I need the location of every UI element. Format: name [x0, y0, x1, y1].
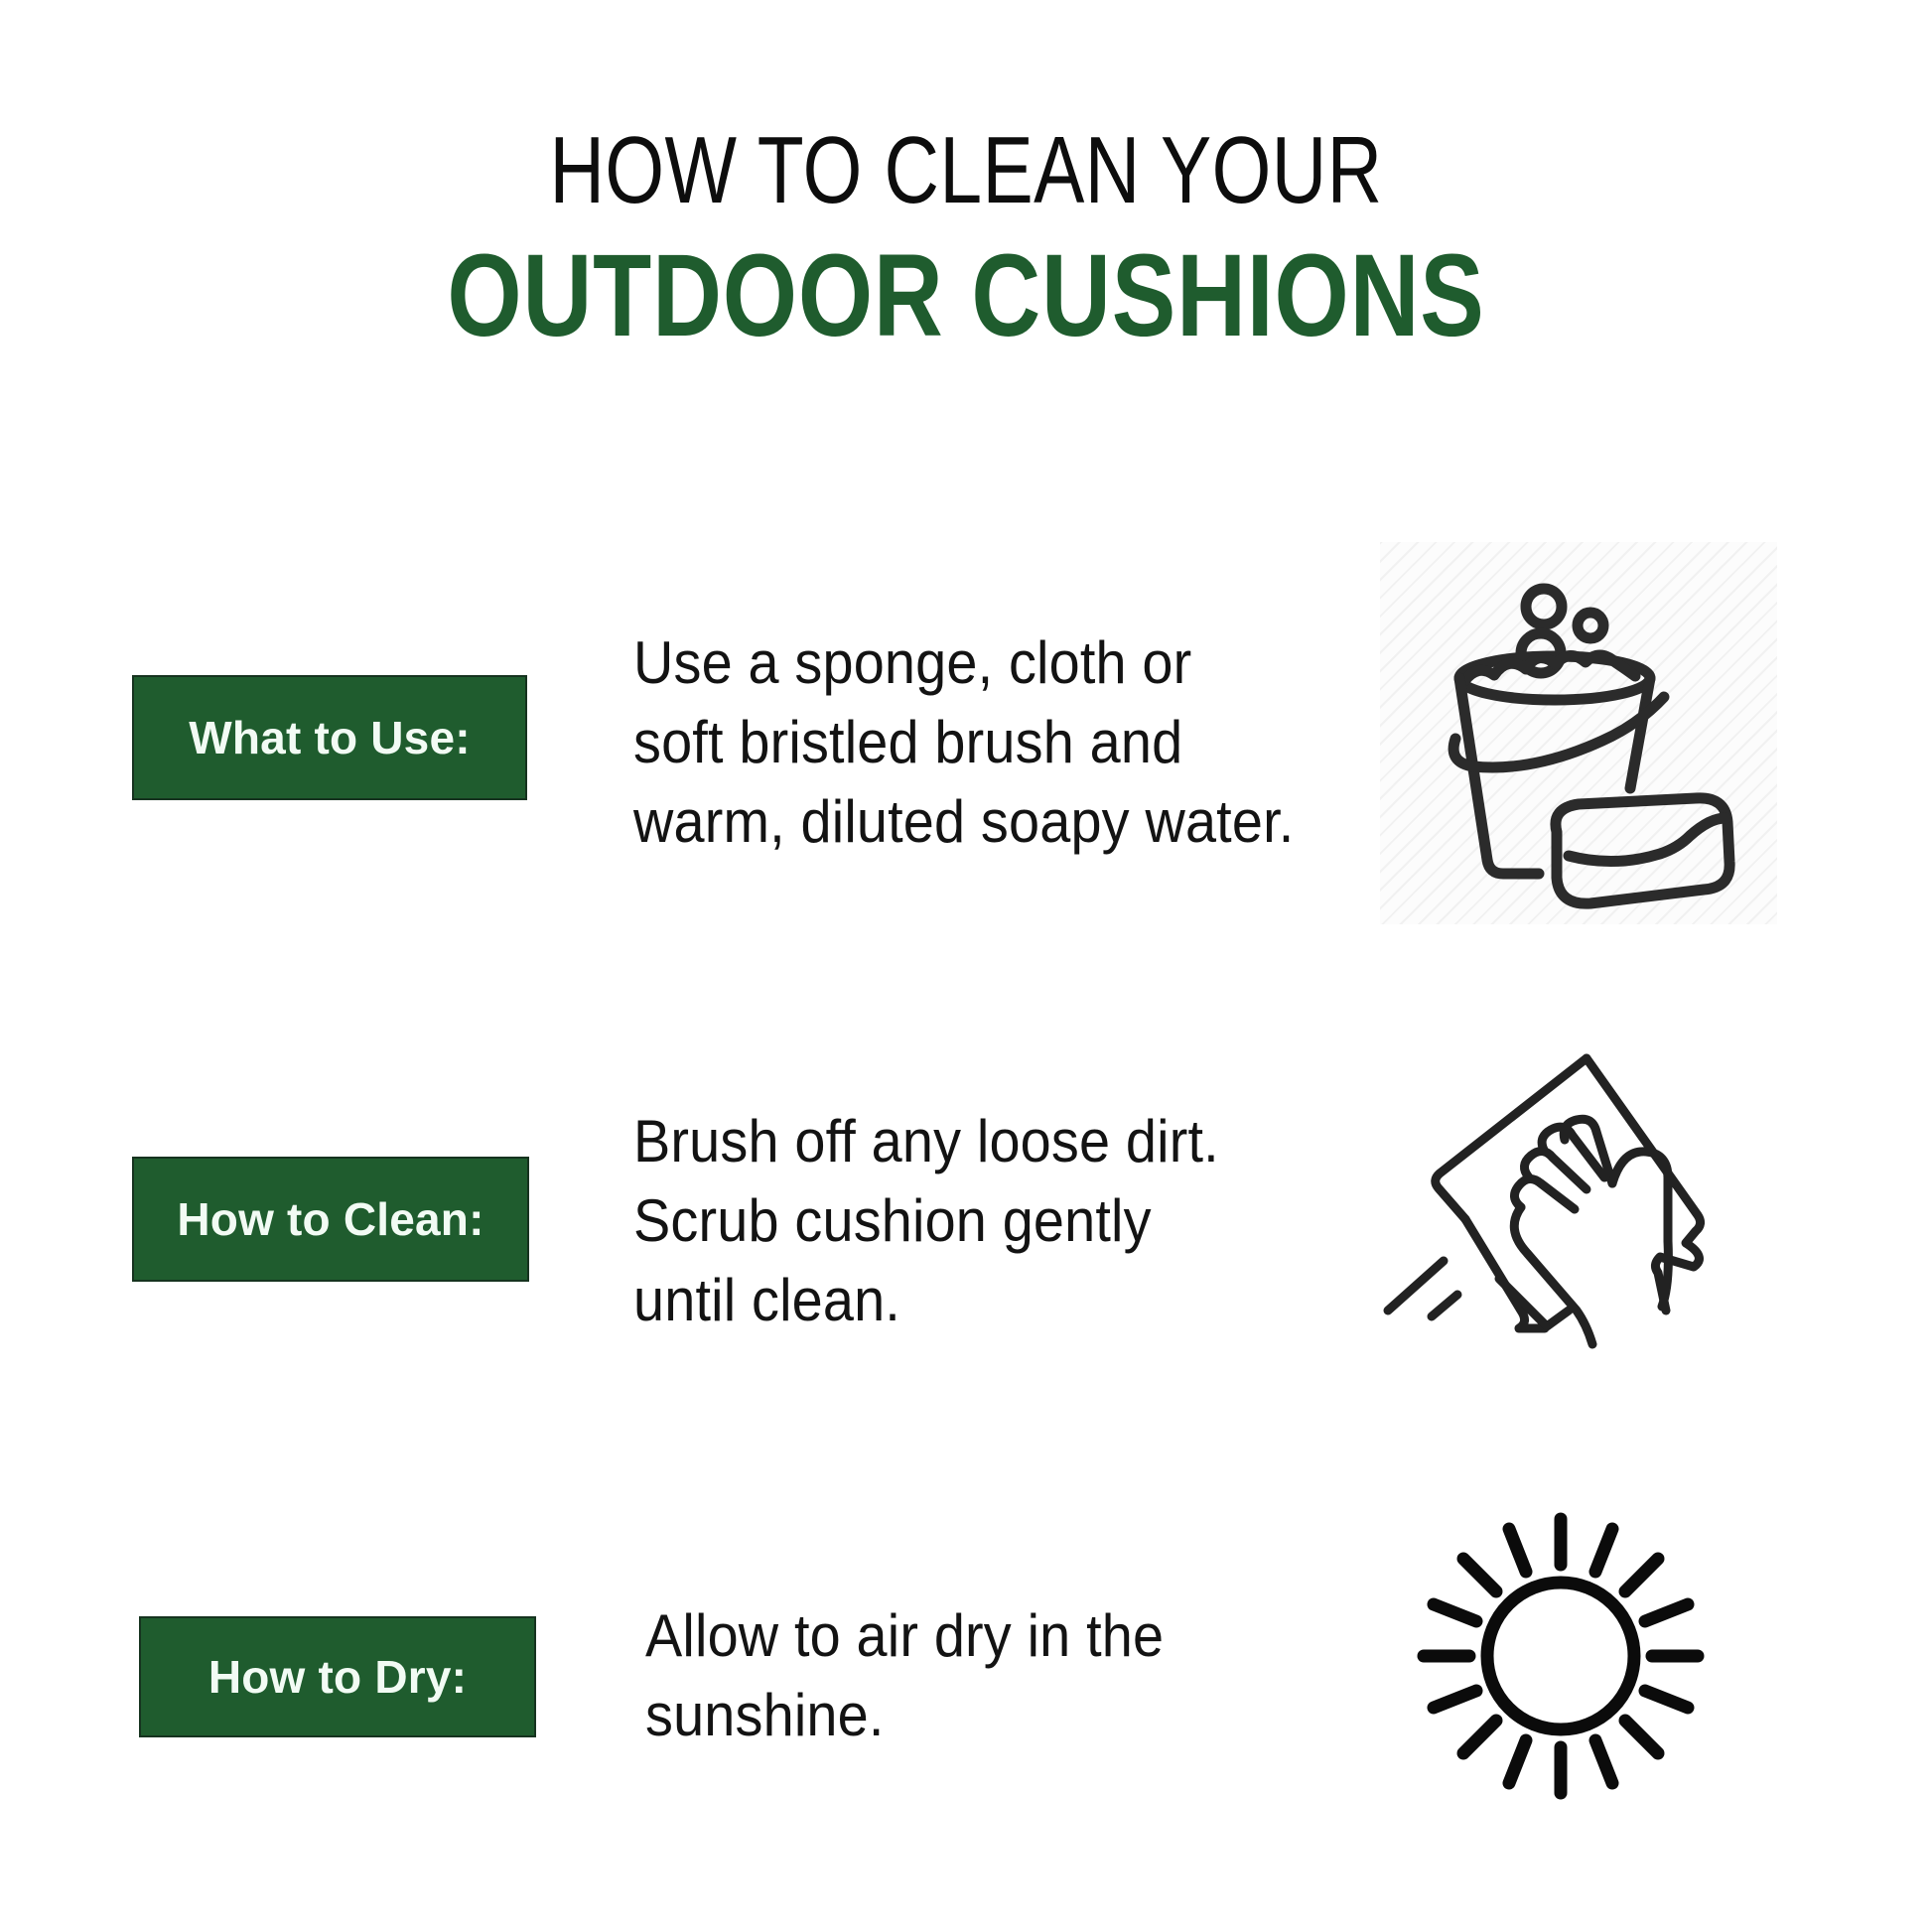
step-description-line: sunshine. — [645, 1676, 1292, 1755]
page-title-line-2: OUTDOOR CUSHIONS — [174, 232, 1758, 359]
step-description-line: until clean. — [633, 1261, 1280, 1340]
step-description-line: warm, diluted soapy water. — [633, 782, 1280, 862]
step-label-text: What to Use: — [189, 713, 471, 762]
step-description-line: Use a sponge, cloth or — [633, 623, 1280, 703]
step-description-line: soft bristled brush and — [633, 703, 1280, 782]
step-label-box-how-to-dry: How to Dry: — [139, 1616, 536, 1737]
page-title-line-1: HOW TO CLEAN YOUR — [194, 117, 1739, 224]
step-row-what-to-use: What to Use: Use a sponge, cloth or soft… — [0, 526, 1932, 943]
step-row-how-to-dry: How to Dry: Allow to air dry in the suns… — [0, 1479, 1932, 1906]
step-description-line: Scrub cushion gently — [633, 1181, 1280, 1261]
bucket-sponge-icon — [1380, 542, 1777, 924]
step-description-how-to-dry: Allow to air dry in the sunshine. — [645, 1596, 1292, 1755]
step-row-how-to-clean: How to Clean: Brush off any loose dirt. … — [0, 1003, 1932, 1420]
sun-icon — [1390, 1499, 1767, 1876]
step-description-what-to-use: Use a sponge, cloth or soft bristled bru… — [633, 623, 1280, 862]
step-label-box-what-to-use: What to Use: — [132, 675, 527, 800]
step-label-text: How to Dry: — [208, 1652, 467, 1702]
step-label-box-how-to-clean: How to Clean: — [132, 1157, 529, 1282]
hand-wiping-cloth-icon — [1370, 1013, 1787, 1400]
step-label-text: How to Clean: — [177, 1194, 483, 1244]
infographic-page: HOW TO CLEAN YOUR OUTDOOR CUSHIONS What … — [0, 0, 1932, 1932]
step-description-line: Allow to air dry in the — [645, 1596, 1292, 1676]
header: HOW TO CLEAN YOUR OUTDOOR CUSHIONS — [0, 117, 1932, 359]
step-description-line: Brush off any loose dirt. — [633, 1102, 1280, 1181]
step-description-how-to-clean: Brush off any loose dirt. Scrub cushion … — [633, 1102, 1280, 1340]
